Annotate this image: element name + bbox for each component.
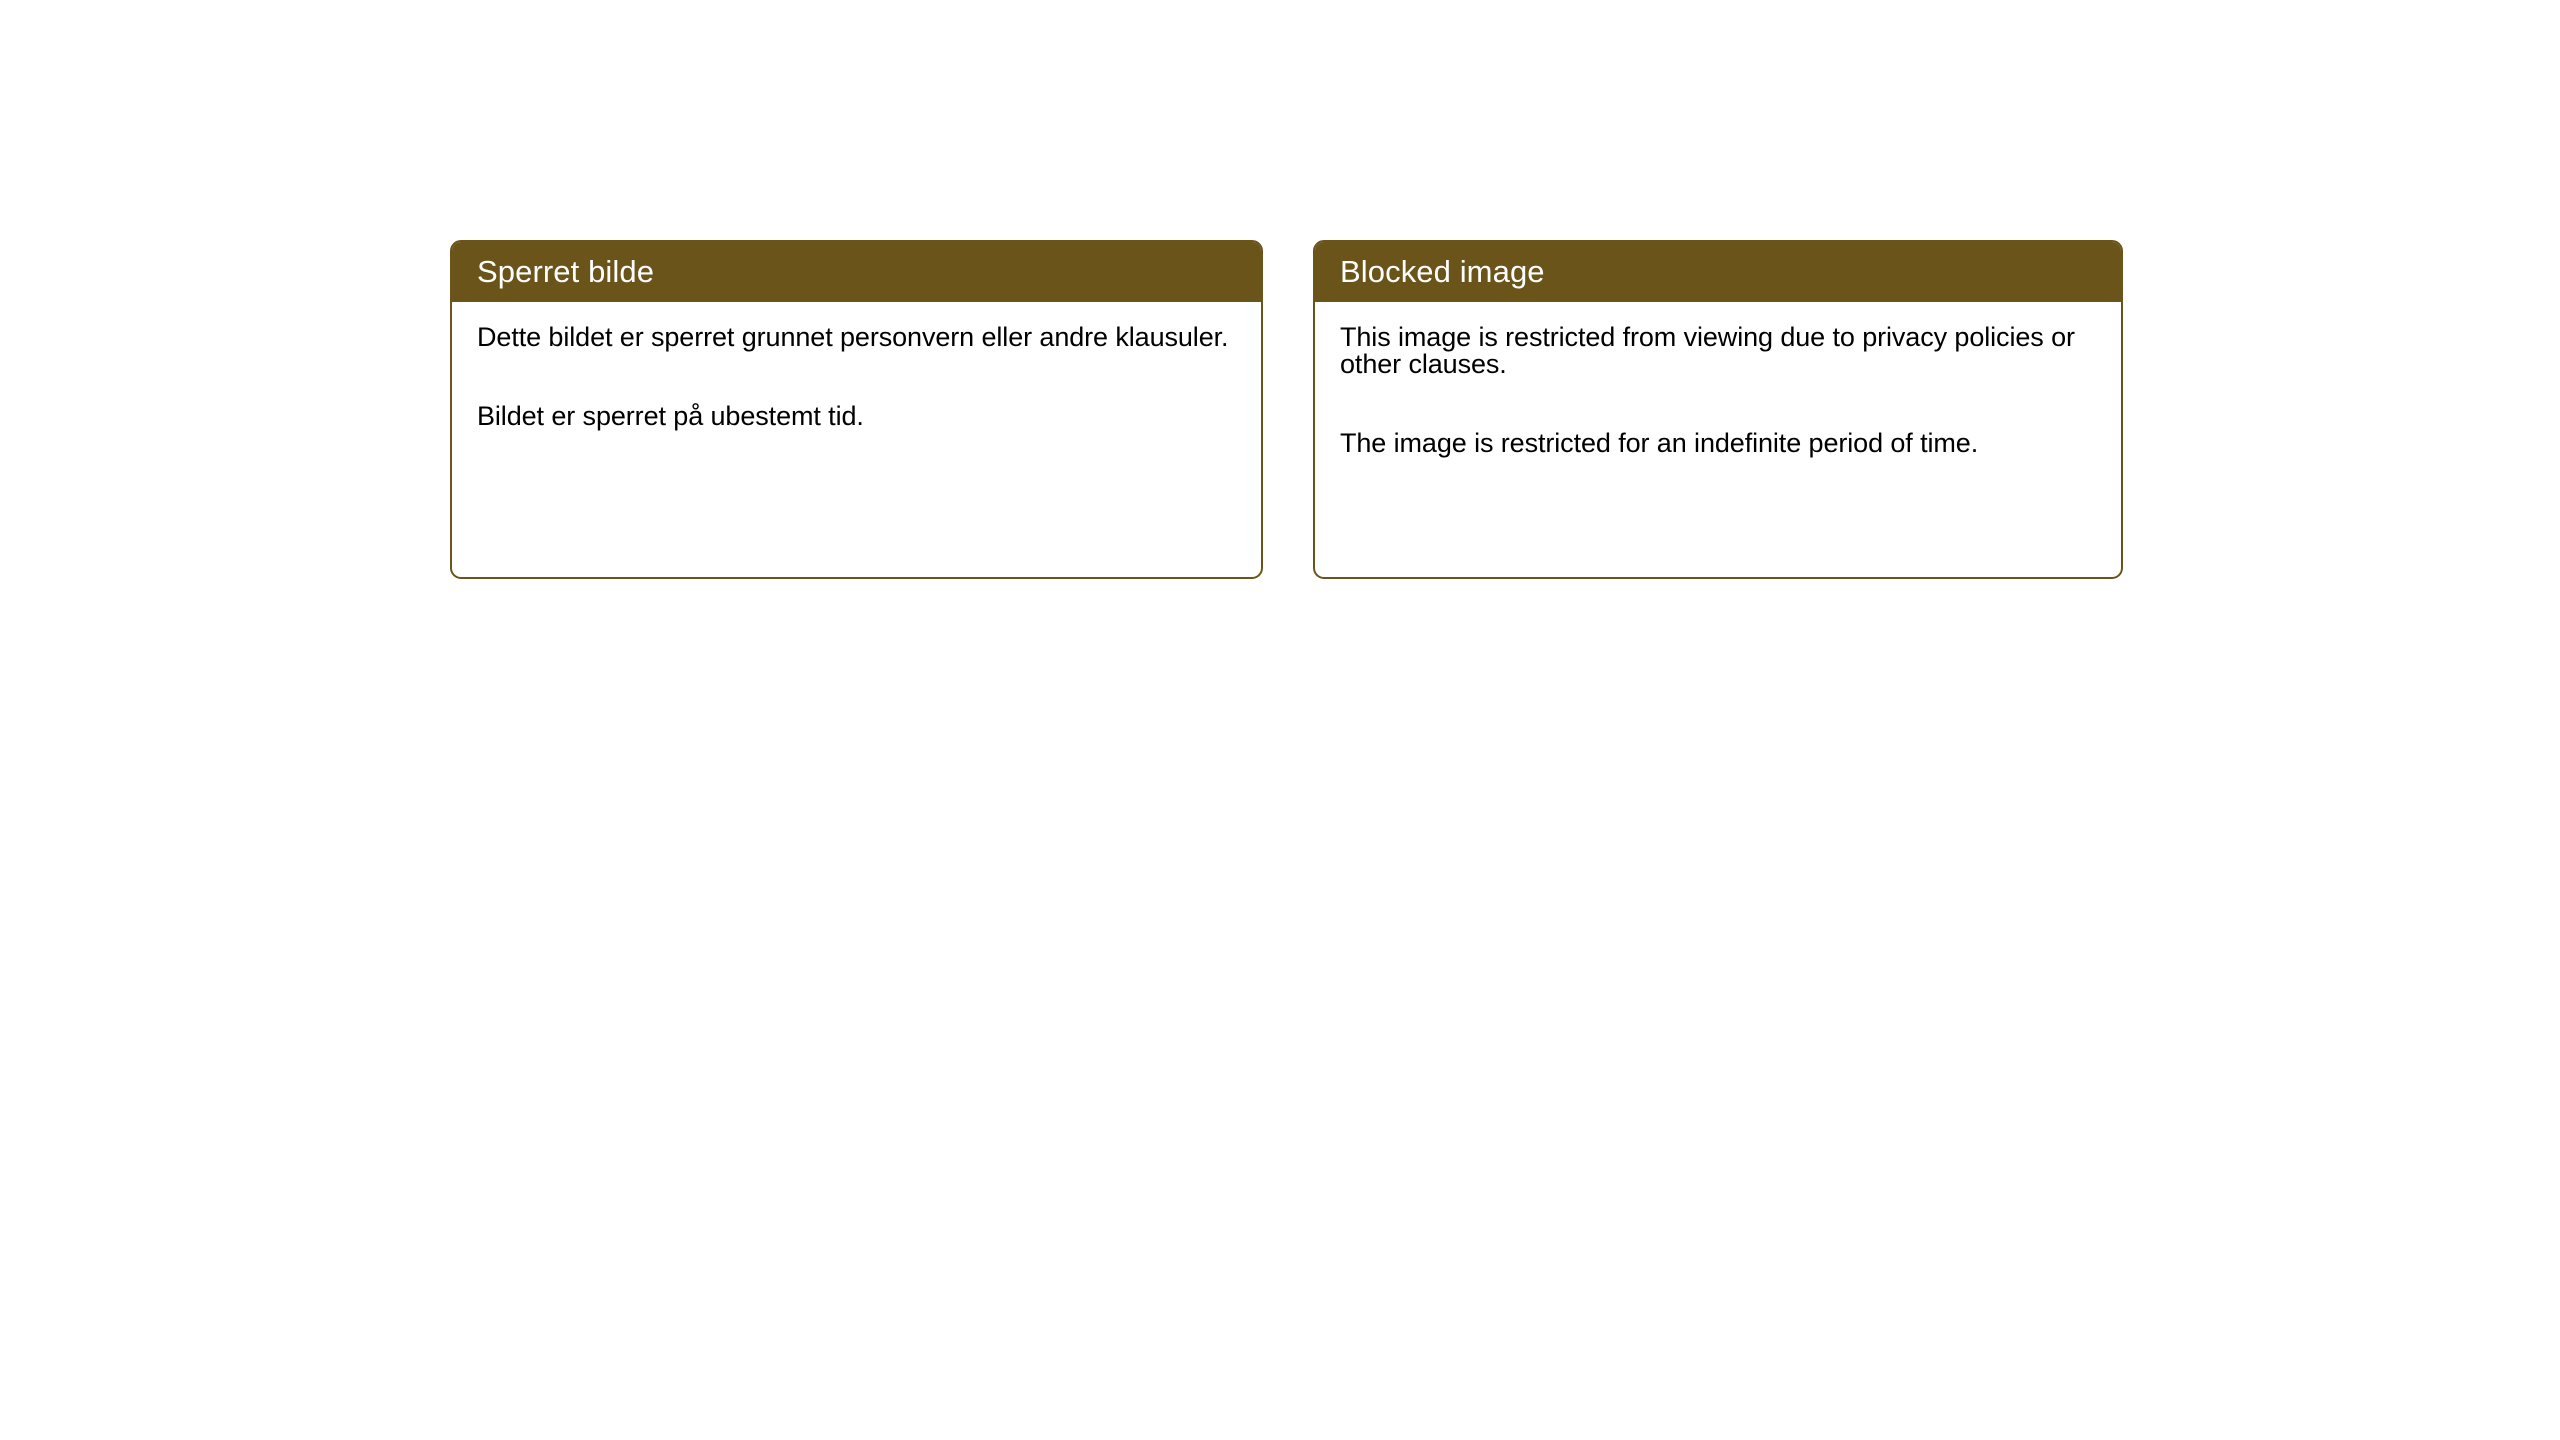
card-title-norwegian: Sperret bilde [477, 256, 654, 287]
card-message-secondary-norwegian: Bildet er sperret på ubestemt tid. [477, 403, 1241, 430]
card-message-primary-norwegian: Dette bildet er sperret grunnet personve… [477, 324, 1241, 351]
card-message-secondary-english: The image is restricted for an indefinit… [1340, 430, 2101, 457]
card-body-norwegian: Dette bildet er sperret grunnet personve… [452, 302, 1261, 430]
blocked-image-card-norwegian: Sperret bilde Dette bildet er sperret gr… [450, 240, 1263, 579]
card-body-english: This image is restricted from viewing du… [1315, 302, 2121, 457]
page-canvas: Sperret bilde Dette bildet er sperret gr… [0, 0, 2560, 1440]
card-message-primary-english: This image is restricted from viewing du… [1340, 324, 2101, 378]
card-header-norwegian: Sperret bilde [452, 242, 1261, 302]
card-title-english: Blocked image [1340, 256, 1545, 287]
card-header-english: Blocked image [1315, 242, 2121, 302]
blocked-image-card-english: Blocked image This image is restricted f… [1313, 240, 2123, 579]
